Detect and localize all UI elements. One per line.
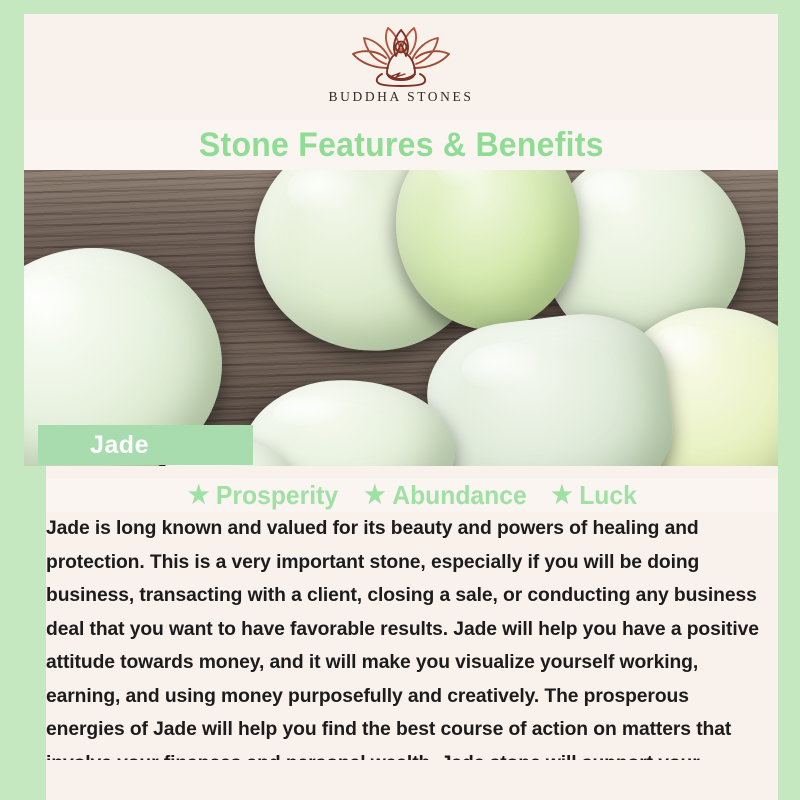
benefit-item: ★ Luck xyxy=(552,480,638,511)
star-icon: ★ xyxy=(188,483,209,508)
page-title: Stone Features & Benefits xyxy=(199,126,604,165)
benefit-label: Abundance xyxy=(393,480,527,511)
brand-name: BUDDHA STONES xyxy=(329,89,474,105)
frame-bar-right xyxy=(778,0,800,800)
title-band: Stone Features & Benefits xyxy=(24,120,778,170)
stone-name-label: Jade xyxy=(90,431,149,460)
stone-name-banner: Jade xyxy=(38,425,253,465)
star-icon: ★ xyxy=(552,483,573,508)
poster-root: BUDDHA STONES Stone Features & Benefits … xyxy=(0,0,800,800)
benefit-item: ★ Prosperity xyxy=(188,480,338,511)
benefit-label: Luck xyxy=(580,480,638,511)
benefit-label: Prosperity xyxy=(216,480,338,511)
brand-header: BUDDHA STONES xyxy=(24,14,778,120)
top-green-notch xyxy=(24,0,778,14)
description-text: Jade is long known and valued for its be… xyxy=(46,512,775,800)
star-icon: ★ xyxy=(365,483,386,508)
frame-bar-left-lower xyxy=(24,466,46,800)
frame-bar-left xyxy=(0,0,24,800)
bottom-cream-strip xyxy=(46,760,778,800)
benefit-item: ★ Abundance xyxy=(365,480,527,511)
stone-photo xyxy=(0,170,800,466)
benefits-row: ★ Prosperity ★ Abundance ★ Luck xyxy=(46,478,778,512)
lotus-meditation-icon xyxy=(326,24,476,88)
